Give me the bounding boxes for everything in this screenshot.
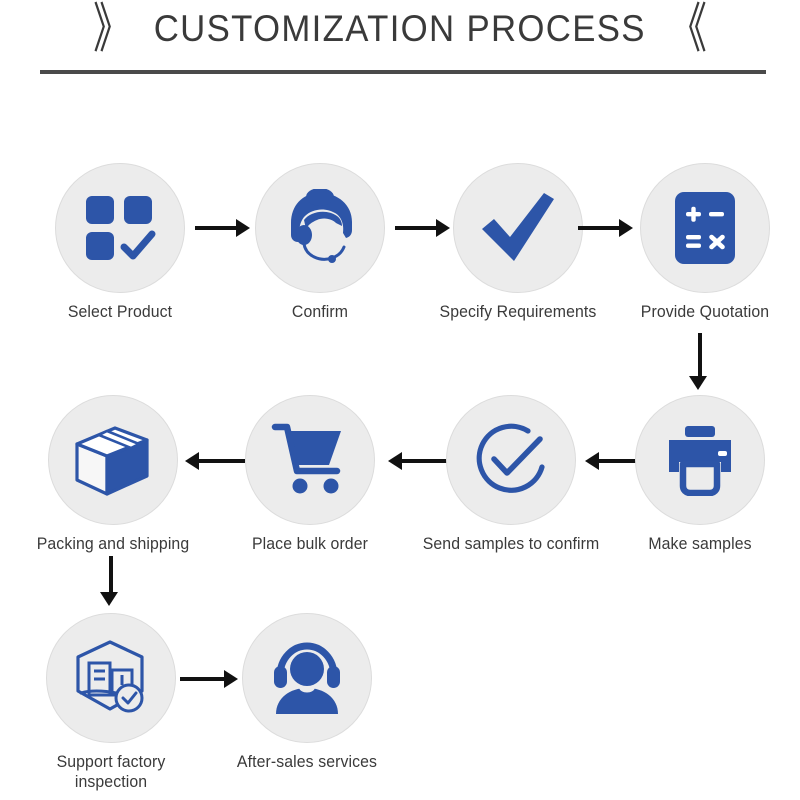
step-icon-circle	[245, 395, 375, 525]
step-label: Place bulk order	[209, 534, 411, 554]
step-label: Make samples	[599, 534, 800, 554]
step-packing-and-shipping[interactable]: Packing and shipping	[38, 395, 188, 554]
step-specify-requirements[interactable]: Specify Requirements	[443, 163, 593, 322]
printer-icon	[663, 424, 737, 496]
step-after-sales-services[interactable]: After-sales services	[232, 613, 382, 772]
page-title-text: CUSTOMIZATION PROCESS	[154, 8, 646, 50]
grid-check-icon	[84, 194, 156, 262]
step-support-factory-inspection[interactable]: Support factory inspection	[36, 613, 186, 793]
step-label: Packing and shipping	[12, 534, 214, 554]
step-confirm[interactable]: Confirm	[245, 163, 395, 322]
step-icon-circle	[453, 163, 583, 293]
double-chevron-right-icon: 》	[93, 2, 131, 56]
infographic-canvas: 》 CUSTOMIZATION PROCESS 《 Select Product	[0, 0, 800, 800]
step-label: Support factory inspection	[10, 752, 212, 793]
step-label: Select Product	[48, 302, 192, 322]
shopping-cart-icon	[271, 423, 349, 497]
arrow-row2-to-row3	[100, 556, 122, 606]
step-label-line1: Support factory	[57, 753, 166, 771]
step-label: Send samples to confirm	[410, 534, 612, 554]
factory-inspection-shield-icon	[72, 639, 150, 717]
arrow-support-factory-inspection-to-after-sales-services	[180, 668, 238, 690]
double-chevron-left-icon: 《	[669, 2, 707, 56]
step-icon-circle	[640, 163, 770, 293]
headset-agent-icon	[280, 189, 360, 267]
circle-check-icon	[472, 421, 550, 499]
step-place-bulk-order[interactable]: Place bulk order	[235, 395, 385, 554]
step-icon-circle	[48, 395, 178, 525]
page-title: 》 CUSTOMIZATION PROCESS 《	[0, 8, 800, 50]
step-label: Confirm	[248, 302, 392, 322]
step-icon-circle	[635, 395, 765, 525]
step-icon-circle	[55, 163, 185, 293]
package-box-icon	[73, 422, 153, 498]
step-label: After-sales services	[206, 752, 408, 772]
step-icon-circle	[242, 613, 372, 743]
checkmark-icon	[478, 191, 558, 265]
step-label: Specify Requirements	[417, 302, 619, 322]
arrow-row1-to-row2	[689, 333, 711, 390]
step-select-product[interactable]: Select Product	[45, 163, 195, 322]
calculator-icon	[673, 190, 737, 266]
step-make-samples[interactable]: Make samples	[625, 395, 775, 554]
arrow-specify-requirements-to-provide-quotation	[578, 217, 633, 239]
step-send-samples-to-confirm[interactable]: Send samples to confirm	[436, 395, 586, 554]
step-label: Provide Quotation	[604, 302, 800, 322]
header-divider	[40, 70, 766, 74]
arrow-confirm-to-specify-requirements	[395, 217, 450, 239]
step-label-line2: inspection	[75, 773, 147, 791]
step-icon-circle	[446, 395, 576, 525]
header: 》 CUSTOMIZATION PROCESS 《	[0, 0, 800, 90]
step-provide-quotation[interactable]: Provide Quotation	[630, 163, 780, 322]
customer-support-person-icon	[267, 642, 347, 714]
step-icon-circle	[46, 613, 176, 743]
arrow-select-product-to-confirm	[195, 217, 250, 239]
step-icon-circle	[255, 163, 385, 293]
